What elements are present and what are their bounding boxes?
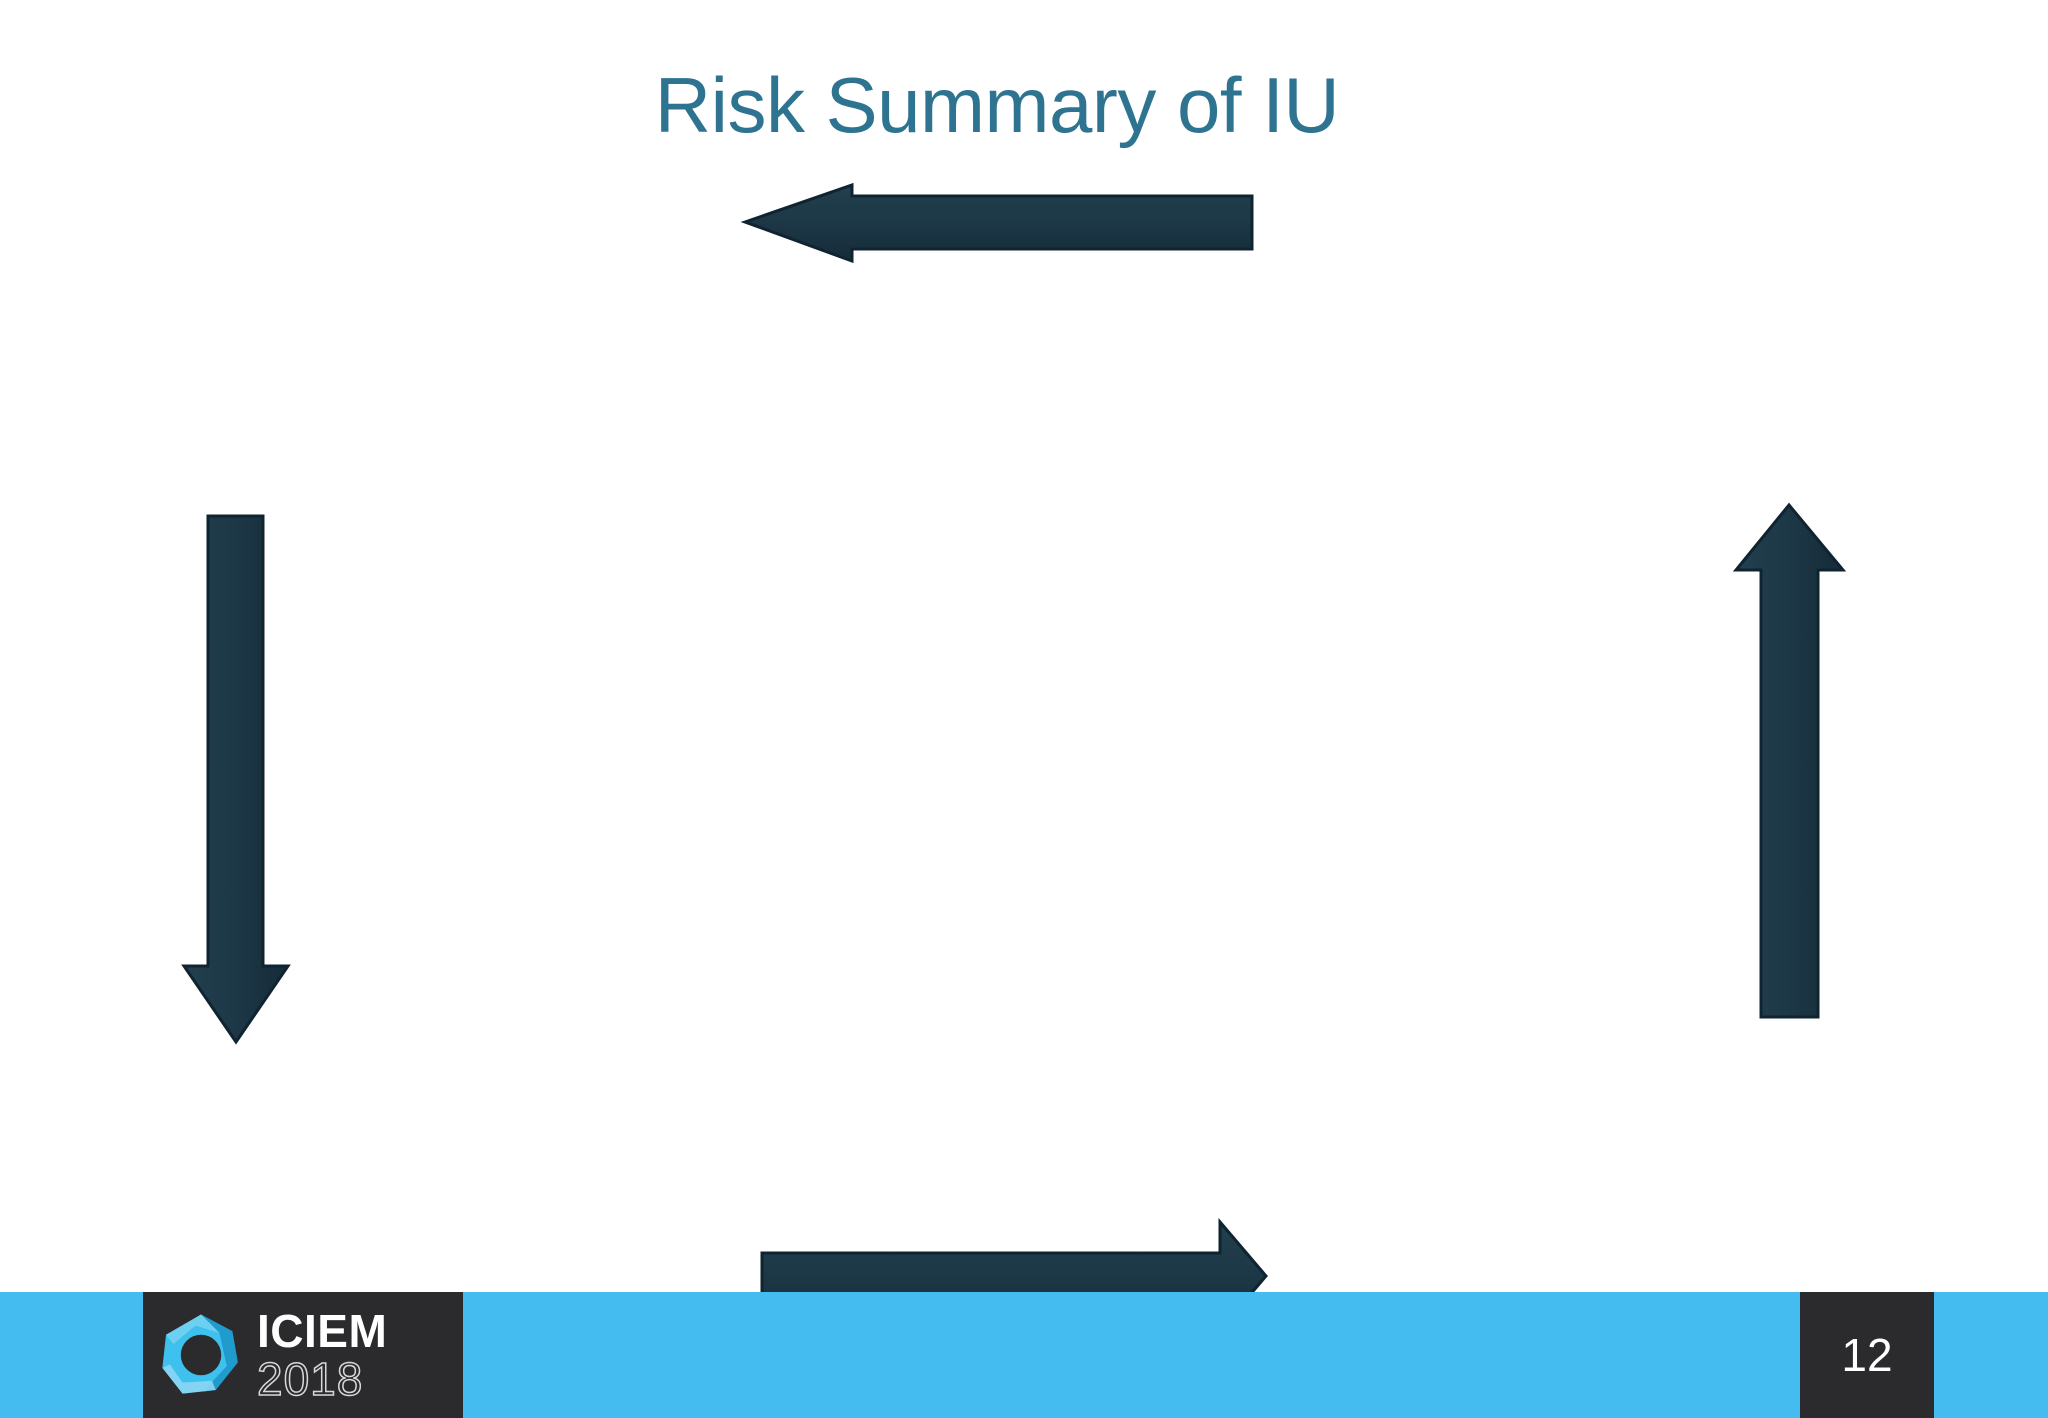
arrow-top-left-pointing	[745, 185, 1252, 261]
conference-logo: ICIEM 2018	[143, 1292, 463, 1418]
logo-wordmark: ICIEM 2018	[257, 1308, 387, 1402]
page-number-badge: 12	[1800, 1292, 1934, 1418]
cycle-diagram	[0, 0, 2048, 1418]
logo-name: ICIEM	[257, 1308, 387, 1354]
page-title: Risk Summary of IU	[0, 66, 2021, 144]
logo-year: 2018	[257, 1356, 387, 1402]
arrow-left-down-pointing	[184, 516, 288, 1042]
page-number: 12	[1841, 1328, 1892, 1382]
arrow-right-up-pointing	[1736, 505, 1843, 1017]
hexagon-swirl-icon	[155, 1309, 247, 1401]
presentation-slide: Risk Summary of IU	[0, 0, 2048, 1418]
